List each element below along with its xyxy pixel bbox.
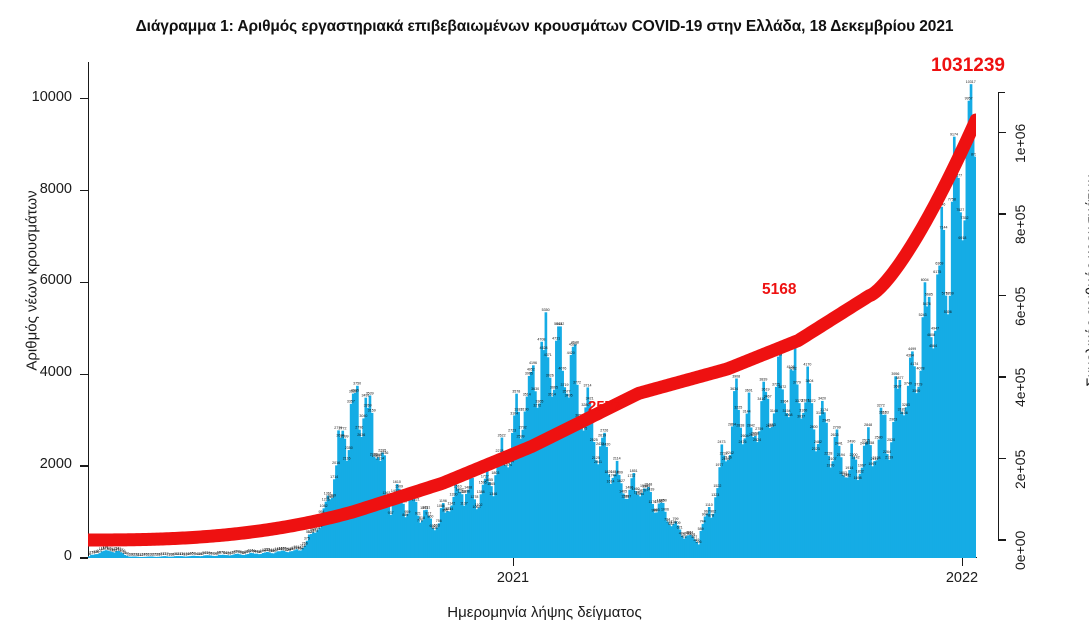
- bar-value-label: 266: [302, 542, 308, 546]
- bar-value-label: 3040: [359, 414, 367, 418]
- bar-value-label: 5685: [925, 293, 933, 297]
- bar-value-label: 4808: [927, 333, 935, 337]
- bar-value-label: 3926: [546, 373, 554, 377]
- bar-value-label: 2524: [753, 438, 761, 442]
- bar-value-label: 3283: [902, 403, 910, 407]
- page-title: Διάγραμμα 1: Αριθμός εργαστηριακά επιβεβ…: [0, 18, 1089, 36]
- bar-value-label: 1698: [854, 476, 862, 480]
- bar-value-label: 1610: [393, 480, 401, 484]
- bar-value-label: 2350: [345, 446, 353, 450]
- bar-value-label: 2136: [724, 456, 732, 460]
- bar-value-label: 4564: [929, 344, 937, 348]
- y-axis-right-title: Συνολικός αριθμός κρουσμάτων: [1084, 71, 1089, 491]
- cumulative-annotation-total: 1031239: [931, 55, 1005, 77]
- bar-value-label: 2599: [341, 434, 349, 438]
- bar-value-label: 1396: [462, 490, 470, 494]
- bar-value-label: 3772: [573, 381, 581, 385]
- bar-value-label: 4082: [789, 366, 797, 370]
- y-tick-label-right: 0e+00: [1012, 531, 1028, 570]
- bar-value-label: 1200: [659, 499, 667, 503]
- bar-value-label: 3601: [745, 388, 753, 392]
- bar-value-label: 818: [419, 516, 425, 520]
- y-tick-label-right: 2e+05: [1012, 449, 1028, 488]
- y-tick-mark-right: [998, 539, 1006, 540]
- bar-value-label: 2796: [355, 425, 363, 429]
- bar-value-label: 1809: [615, 471, 623, 475]
- bar-value-label: 3514: [523, 392, 531, 396]
- y-tick-label: 4000: [0, 364, 72, 380]
- bar-value-label: 1006: [661, 508, 669, 512]
- bar-value-label: 2107: [829, 457, 837, 461]
- bar-value-label: 3578: [512, 389, 520, 393]
- bar-value-label: 3104: [510, 411, 518, 415]
- bar-value-label: 5306: [944, 310, 952, 314]
- bar-value-label: 7758: [948, 198, 956, 202]
- bar-value-label: 3225: [734, 406, 742, 410]
- bar-value-label: 756: [436, 519, 442, 523]
- bar-value-label: 3148: [770, 409, 778, 413]
- bar-value-label: 2420: [602, 443, 610, 447]
- bar-value-label: 1309: [328, 494, 336, 498]
- bar-value-label: 1343: [636, 492, 644, 496]
- bar-value-label: 1752: [843, 473, 851, 477]
- bar-value-label: 3467: [764, 395, 772, 399]
- bar-value-label: 1082: [320, 504, 328, 508]
- bar-value-label: 1102: [475, 503, 483, 507]
- bar-value-label: 962: [710, 510, 716, 514]
- bar-value-label: 4947: [931, 327, 939, 331]
- bar-value-label: 3729: [914, 383, 922, 387]
- bar-value-label: 2114: [613, 457, 621, 461]
- y-tick-mark-right: [998, 295, 1006, 296]
- bar-value-label: 2838: [736, 423, 744, 427]
- bar-value-label: 3839: [759, 378, 767, 382]
- bar-value-label: 3272: [533, 404, 541, 408]
- bar-value-label: 2441: [835, 442, 843, 446]
- bar-value-label: 4076: [558, 367, 566, 371]
- bar-value-label: 1142: [448, 501, 456, 505]
- y-tick-mark: [80, 98, 88, 99]
- bar-value-label: 3749: [904, 382, 912, 386]
- bar-value-label: 2476: [738, 440, 746, 444]
- bar-value-label: 3619: [762, 388, 770, 392]
- y-tick-label: 6000: [0, 272, 72, 288]
- bar-value-label: 2458: [866, 441, 874, 445]
- bar-value-label: 1323: [711, 493, 719, 497]
- y-tick-mark: [80, 374, 88, 375]
- bar-value-label: 3514: [548, 392, 556, 396]
- bar-value-label: 860: [427, 514, 433, 518]
- bar-value-label: 6918: [958, 236, 966, 240]
- bar-value-label: 1832: [856, 470, 864, 474]
- bar-value-label: 921: [415, 512, 421, 516]
- bar-value-label: 3420: [818, 397, 826, 401]
- bar-value-label: 1614: [607, 480, 615, 484]
- y-tick-label: 0: [0, 548, 72, 564]
- bar-value-label: 1137: [460, 502, 468, 506]
- bar-value-label: 1522: [713, 484, 721, 488]
- bar-value-label: 937: [388, 511, 394, 515]
- bar-value-label: 1330: [449, 493, 457, 497]
- bar-value-label: 4499: [908, 347, 916, 351]
- bar-value-label: 2945: [822, 419, 830, 423]
- bar-value-label: 1565: [487, 482, 495, 486]
- bar-value-label: 3965: [525, 372, 533, 376]
- bar-value-label: 4731: [552, 337, 560, 341]
- bar-value-label: 3269: [364, 404, 372, 408]
- bar-value-label: 2116: [343, 457, 351, 461]
- bar-value-label: 7352: [960, 216, 968, 220]
- bar-value-label: 878: [708, 514, 714, 518]
- bar-value-label: 2599: [516, 434, 524, 438]
- bar-value-label: 1548: [644, 483, 652, 487]
- bar-value-label: 4371: [544, 353, 552, 357]
- bar-value-label: 2848: [864, 423, 872, 427]
- bar-value-label: 1420: [638, 489, 646, 493]
- bar-value-label: 3687: [893, 384, 901, 388]
- bar-value-label: 1851: [630, 469, 638, 473]
- bar-value-label: 2759: [755, 427, 763, 431]
- bar-value-label: 1346: [489, 492, 497, 496]
- y-tick-label: 2000: [0, 456, 72, 472]
- bar-value-label: 2963: [889, 418, 897, 422]
- bar-value-label: 2636: [357, 433, 365, 437]
- bar-value-label: 2520: [887, 438, 895, 442]
- bar-value-label: 6369: [935, 261, 943, 265]
- y-tick-label-right: 6e+05: [1012, 286, 1028, 325]
- y-tick-label-right: 4e+05: [1012, 368, 1028, 407]
- bar-value-label: 2792: [519, 426, 527, 430]
- bar-value-label: 3365: [535, 399, 543, 403]
- bar-value-label: 296: [696, 540, 702, 544]
- x-tick-mark: [513, 558, 514, 566]
- y-tick-mark-right: [998, 376, 1006, 377]
- bar-value-label: 1509: [395, 485, 403, 489]
- bar-value-label: 4078: [917, 367, 925, 371]
- bar-value-label: 3190: [521, 407, 529, 411]
- bar-value-label: 1737: [627, 474, 635, 478]
- bar-value-label: 3160: [799, 409, 807, 413]
- bar-value-label: 3364: [780, 399, 788, 403]
- bar-value-label: 3750: [353, 382, 361, 386]
- bar-value-label: 2723: [508, 429, 516, 433]
- bar-value-label: 2580: [875, 435, 883, 439]
- bar-value-label: 3495: [565, 393, 573, 397]
- bar-value-label: 3595: [351, 389, 359, 393]
- bar-value-label: 3804: [806, 379, 814, 383]
- y-tick-label: 10000: [0, 89, 72, 105]
- bar-value-label: 3665: [550, 386, 558, 390]
- bar-value-label: 1388: [477, 490, 485, 494]
- bar-value-label: 2016: [332, 461, 340, 465]
- bar-value-label: 1405: [619, 489, 627, 493]
- bar-value-label: 9174: [950, 132, 958, 136]
- bar-value-label: 2128: [873, 456, 881, 460]
- bar-value-label: 621: [677, 525, 683, 529]
- bar-value-label: 1051: [422, 506, 430, 510]
- bar-value-label: 3590: [912, 389, 920, 393]
- y-tick-label-right: 8e+05: [1012, 205, 1028, 244]
- bar-value-label: 5478: [923, 302, 931, 306]
- bar-value-label: 2633: [831, 433, 839, 437]
- bar-value-label: 3144: [743, 409, 751, 413]
- bar-value-label: 2772: [338, 427, 346, 431]
- bar-value-label: 2482: [814, 440, 822, 444]
- bar-value-label: 3106: [900, 411, 908, 415]
- y-tick-label-right: 1e+06: [1012, 123, 1028, 162]
- bar-value-label: 2799: [833, 425, 841, 429]
- bar-value-label: 3037: [797, 414, 805, 418]
- cumulative-annotation-1: 2577: [588, 398, 621, 415]
- bar-value-label: 7144: [940, 226, 948, 230]
- bar-value-label: 1977: [715, 463, 723, 467]
- x-tick-label: 2021: [478, 570, 548, 586]
- bar-value-label: 1803: [491, 471, 499, 475]
- bar-value-label: 3714: [584, 383, 592, 387]
- y-tick-mark: [80, 465, 88, 466]
- bar-value-label: 1014: [445, 507, 453, 511]
- y-axis-right-line: [998, 92, 999, 540]
- bar-value-label: 1714: [330, 475, 338, 479]
- bar-value-label: 2142: [852, 455, 860, 459]
- cumulative-annotation-2: 5168: [762, 281, 796, 299]
- bar-value-label: 4528: [540, 346, 548, 350]
- bar-value-label: 2228: [824, 451, 832, 455]
- bar-value-label: 9957: [965, 97, 973, 101]
- bar-value-label: 3068: [785, 413, 793, 417]
- bar-value-label: 3123: [881, 410, 889, 414]
- y-tick-mark-right: [998, 213, 1006, 214]
- bar-value-label: 1970: [826, 463, 834, 467]
- bar-value-label: 3372: [808, 399, 816, 403]
- bar-value-label: 4170: [803, 362, 811, 366]
- bar-value-label: 2323: [812, 447, 820, 451]
- bar-value-label: 4420: [567, 351, 575, 355]
- bar-value-label: 2622: [498, 433, 506, 437]
- bar-value-label: 2490: [847, 439, 855, 443]
- bar-value-label: 2139: [885, 456, 893, 460]
- bar-value-label: 993: [654, 508, 660, 512]
- x-axis-title: Ημερομηνία λήψης δείγματος: [0, 604, 1089, 621]
- bar-value-label: 2194: [837, 453, 845, 457]
- bar-value-label: 2041: [594, 460, 602, 464]
- y-tick-label: 8000: [0, 181, 72, 197]
- y-tick-mark-right: [998, 458, 1006, 459]
- bar-value-label: 1278: [470, 495, 478, 499]
- bar-value-label: 5243: [919, 313, 927, 317]
- bar: [974, 157, 976, 558]
- bar-value-label: 6175: [933, 270, 941, 274]
- bar-value-label: 1627: [617, 479, 625, 483]
- bar-value-label: 4052: [527, 368, 535, 372]
- bar-value-label: 5350: [542, 308, 550, 312]
- bar-value-label: 7527: [956, 208, 964, 212]
- y-tick-mark: [80, 282, 88, 283]
- bar-value-label: 375: [304, 537, 310, 541]
- bar-value-label: 3672: [778, 385, 786, 389]
- bar-value-label: 10317: [966, 80, 976, 84]
- bar-value-label: 1997: [868, 462, 876, 466]
- bar-value-label: 4196: [529, 361, 537, 365]
- bar-value-label: 1287: [623, 495, 631, 499]
- bar-value-label: 589: [698, 527, 704, 531]
- bar-value-label: 1196: [439, 499, 447, 503]
- bar-value-label: 3634: [730, 387, 738, 391]
- bar-value-label: 2264: [883, 450, 891, 454]
- bar-value-label: 3908: [732, 374, 740, 378]
- bar-value-label: 3539: [366, 391, 374, 395]
- bar-value-label: 2864: [728, 422, 736, 426]
- y-tick-mark-right: [998, 132, 1006, 133]
- bar-value-label: 2242: [726, 451, 734, 455]
- y-tick-mark: [80, 190, 88, 191]
- bar-value-label: 3357: [347, 400, 355, 404]
- bar-value-label: 1914: [845, 466, 853, 470]
- y-axis-right-cap: [998, 92, 1005, 93]
- bar-value-label: 2473: [718, 440, 726, 444]
- bar-value-label: 3779: [793, 380, 801, 384]
- bar-value-label: 6004: [921, 278, 929, 282]
- bar-value-label: 8739: [971, 152, 976, 156]
- bar-value-label: 1110: [705, 503, 712, 507]
- bar-value-label: 5709: [946, 292, 954, 296]
- bar-value-label: 4364: [906, 353, 914, 357]
- bar-value-label: 2853: [768, 423, 776, 427]
- plot-area: 3871718386107144157171162149130119154153…: [88, 62, 976, 558]
- bar-value-label: 959: [404, 510, 410, 514]
- bars-group: [88, 84, 976, 558]
- bar-value-label: 2619: [598, 434, 606, 438]
- bar-value-label: 2842: [747, 423, 755, 427]
- chart-canvas: 3871718386107144157171162149130119154153…: [88, 62, 976, 558]
- covid-cases-chart: Διάγραμμα 1: Αριθμός εργαστηριακά επιβεβ…: [0, 0, 1089, 633]
- bar-value-label: 3159: [368, 409, 376, 413]
- bar-value-label: 744: [700, 520, 706, 524]
- bar-value-label: 2114: [376, 457, 384, 461]
- bar-value-label: 4708: [537, 338, 545, 342]
- bar-value-label: 3719: [560, 383, 568, 387]
- bar-value-label: 4174: [910, 362, 918, 366]
- y-tick-mark: [80, 557, 88, 558]
- bar-value-label: 3630: [531, 387, 539, 391]
- bar-value-label: 3877: [896, 376, 904, 380]
- bar-value-label: 4648: [571, 340, 579, 344]
- x-tick-label: 2022: [927, 570, 997, 586]
- x-tick-mark: [962, 558, 963, 566]
- bar-value-label: 2658: [751, 432, 759, 436]
- bar-value-label: 3174: [820, 408, 828, 412]
- bar-value-label: 2726: [600, 429, 608, 433]
- bar-value-label: 3272: [877, 404, 885, 408]
- bar-value-label: 2236: [380, 451, 388, 455]
- bar-value-label: 5042: [556, 322, 564, 326]
- bar-value-label: 663: [434, 523, 440, 527]
- bar-value-label: 1967: [858, 463, 866, 467]
- bar-value-label: 2604: [741, 434, 749, 438]
- bar-value-label: 1488: [464, 485, 472, 489]
- bar-value-label: 2800: [810, 425, 818, 429]
- bar-value-label: 1439: [646, 488, 654, 492]
